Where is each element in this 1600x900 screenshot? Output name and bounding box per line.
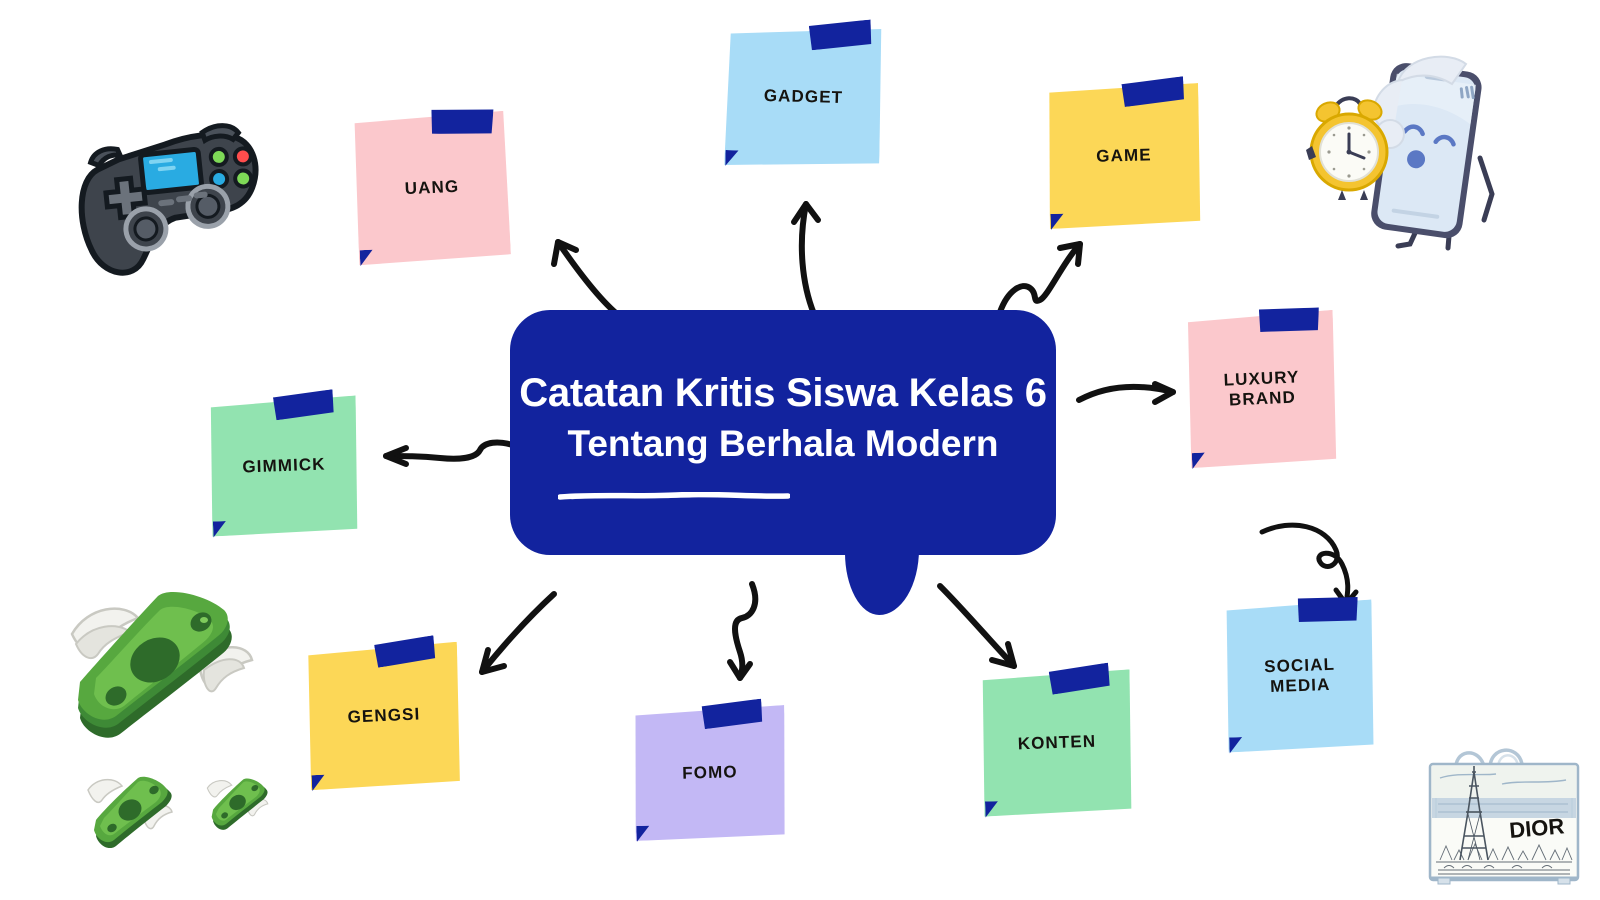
note-label: LUXURY BRAND [1223, 367, 1301, 411]
note-label: FOMO [682, 762, 738, 784]
note-gengsi[interactable]: GENGSI [305, 642, 463, 790]
note-tape [431, 108, 494, 136]
note-label: GADGET [764, 86, 844, 108]
note-game[interactable]: GAME [1046, 83, 1202, 229]
mindmap-canvas: DIOR [0, 0, 1600, 900]
note-tape [1298, 597, 1358, 622]
note-gadget[interactable]: GADGET [724, 25, 883, 169]
arrow-to-gengsi [462, 580, 572, 685]
dior-bag-label: DIOR [1508, 813, 1565, 843]
note-tape [1259, 307, 1319, 332]
note-label: GIMMICK [242, 454, 326, 477]
underline-stroke-icon [558, 487, 790, 494]
arrow-to-luxury-brand [1075, 370, 1185, 420]
arrow-to-konten [930, 578, 1040, 683]
alarm-clock-icon [1306, 97, 1387, 200]
center-speech-bubble: Catatan Kritis Siswa Kelas 6 Tentang Ber… [510, 310, 1056, 555]
note-uang[interactable]: UANG [353, 111, 511, 265]
arrow-to-fomo [710, 578, 770, 688]
note-social-media[interactable]: SOCIAL MEDIA [1223, 599, 1376, 752]
note-konten[interactable]: KONTEN [980, 669, 1135, 816]
page-title: Catatan Kritis Siswa Kelas 6 [519, 371, 1046, 415]
arrow-to-gadget [772, 188, 842, 323]
arrow-to-gimmick [372, 412, 520, 476]
sleepy-phone-with-alarm-clock-illustration [1302, 48, 1512, 253]
dior-tote-bag-illustration: DIOR [1392, 742, 1592, 900]
flying-money-illustration [52, 572, 282, 752]
flying-money-small-illustration [203, 772, 275, 830]
flying-money-small-illustration [82, 768, 182, 848]
game-controller-illustration [62, 100, 282, 280]
note-label: GENGSI [347, 704, 421, 728]
note-label: SOCIAL MEDIA [1264, 654, 1336, 697]
note-fomo[interactable]: FOMO [632, 705, 787, 841]
note-label: KONTEN [1017, 731, 1096, 754]
note-label: UANG [404, 177, 459, 200]
page-subtitle: Tentang Berhala Modern [567, 423, 998, 466]
note-gimmick[interactable]: GIMMICK [208, 395, 361, 536]
note-luxury-brand[interactable]: LUXURY BRAND [1185, 310, 1339, 468]
note-label: GAME [1096, 145, 1152, 167]
